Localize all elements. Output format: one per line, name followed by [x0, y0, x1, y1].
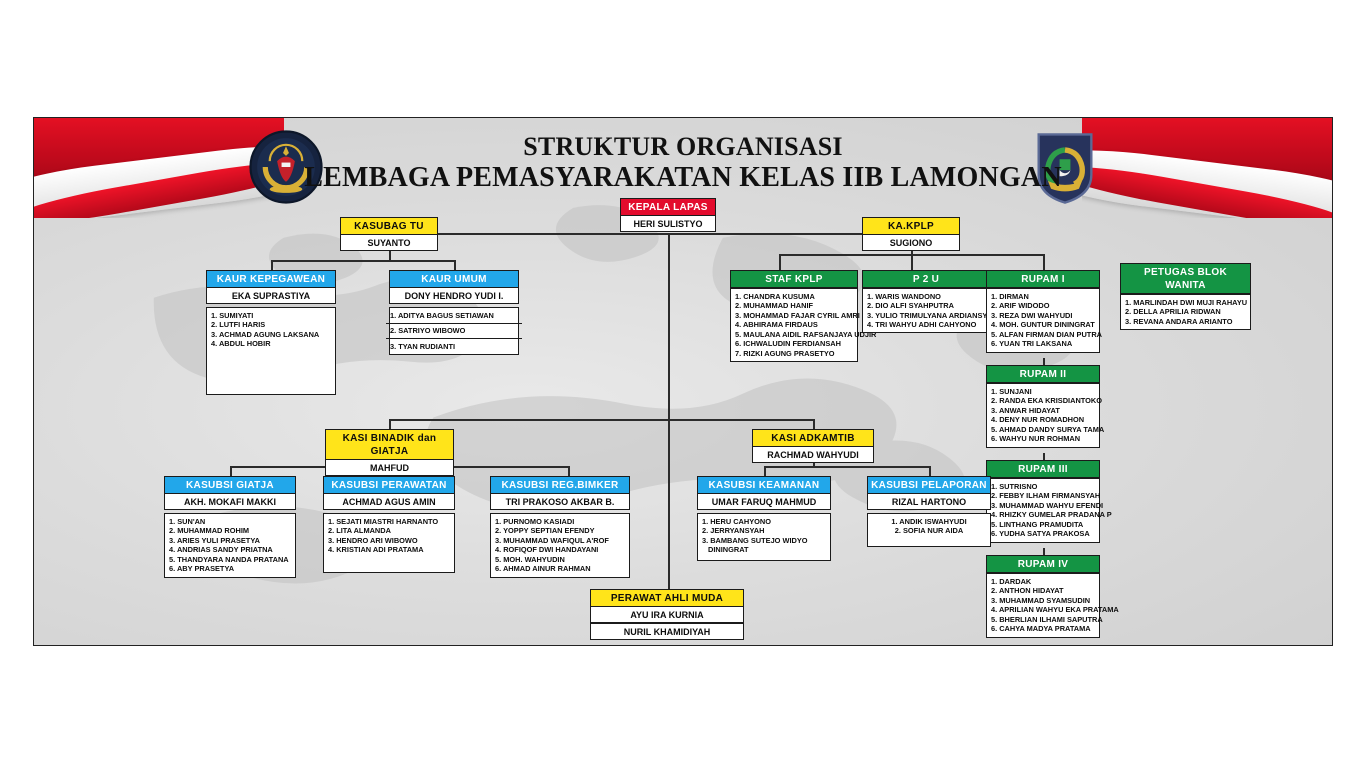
list-item: 2. YOPPY SEPTIAN EFENDY: [495, 526, 625, 536]
ka-kplp-title: KA.KPLP: [862, 217, 960, 235]
kasubsi-keamanan-title: KASUBSI KEAMANAN: [697, 476, 831, 494]
kaur-kepegawean-name: EKA SUPRASTIYA: [206, 288, 336, 304]
list-item: 7. RIZKI AGUNG PRASETYO: [735, 349, 853, 359]
list-item: 4. TRI WAHYU ADHI CAHYONO: [867, 320, 985, 330]
rupam-2-staff-list: 1. SUNJANI 2. RANDA EKA KRISDIANTOKO 3. …: [986, 383, 1100, 448]
kasubag-tu-title: KASUBAG TU: [340, 217, 438, 235]
list-item: 2. LITA ALMANDA: [328, 526, 450, 536]
list-item: 4. MOH. GUNTUR DININGRAT: [991, 320, 1095, 330]
connector-giatja-stem: [230, 466, 232, 476]
kaur-kepegawean-title: KAUR KEPEGAWEAN: [206, 270, 336, 288]
connector-kasubag-bus: [271, 260, 454, 262]
connector-perawat-spine: [668, 419, 670, 589]
list-item: 1. SUTRISNO: [991, 482, 1095, 492]
node-kaur-umum[interactable]: KAUR UMUM DONY HENDRO YUDI I. 1. ADITYA …: [389, 270, 519, 355]
rupam-3-title: RUPAM III: [986, 460, 1100, 478]
kasi-adkamtib-title: KASI ADKAMTIB: [752, 429, 874, 447]
list-item: 1. SUNJANI: [991, 387, 1095, 397]
staf-kplp-staff-list: 1. CHANDRA KUSUMA 2. MUHAMMAD HANIF 3. M…: [730, 288, 858, 362]
list-item: 4. DENY NUR ROMADHON: [991, 415, 1095, 425]
list-item: 1. CHANDRA KUSUMA: [735, 292, 853, 302]
list-item: 3. MOHAMMAD FAJAR CYRIL AMRI: [735, 311, 853, 321]
list-item: 2. RANDA EKA KRISDIANTOKO: [991, 396, 1095, 406]
list-item: 1. HERU CAHYONO: [702, 517, 826, 527]
node-rupam-4[interactable]: RUPAM IV 1. DARDAK 2. ANTHON HIDAYAT 3. …: [986, 555, 1100, 638]
list-item: 1. PURNOMO KASIADI: [495, 517, 625, 527]
ka-kplp-name: SUGIONO: [862, 235, 960, 251]
kasubsi-keamanan-staff-list: 1. HERU CAHYONO 2. JERRYANSYAH 3. BAMBAN…: [697, 513, 831, 561]
list-item: 4. ROFIQOF DWI HANDAYANI: [495, 545, 625, 555]
kasubsi-perawatan-name: ACHMAD AGUS AMIN: [323, 494, 455, 510]
list-item: 1. DARDAK: [991, 577, 1095, 587]
node-rupam-2[interactable]: RUPAM II 1. SUNJANI 2. RANDA EKA KRISDIA…: [986, 365, 1100, 448]
node-petugas-blok-wanita[interactable]: PETUGAS BLOK WANITA 1. MARLINDAH DWI MUJ…: [1120, 263, 1251, 330]
kasubsi-reg-bimker-name: TRI PRAKOSO AKBAR B.: [490, 494, 630, 510]
list-item: 5. AHMAD DANDY SURYA TAMA: [991, 425, 1095, 435]
list-item: 2. SOFIA NUR AIDA: [872, 526, 986, 536]
kasubsi-reg-bimker-staff-list: 1. PURNOMO KASIADI 2. YOPPY SEPTIAN EFEN…: [490, 513, 630, 578]
list-item: 3. REVANA ANDARA ARIANTO: [1125, 317, 1246, 327]
connector-main-spine: [668, 265, 670, 419]
node-rupam-1[interactable]: RUPAM I 1. DIRMAN 2. ARIF WIDODO 3. REZA…: [986, 270, 1100, 353]
connector-p2u-stem: [911, 254, 913, 270]
p2u-staff-list: 1. WARIS WANDONO 2. DIO ALFI SYAHPUTRA 3…: [862, 288, 990, 333]
node-staf-kplp[interactable]: STAF KPLP 1. CHANDRA KUSUMA 2. MUHAMMAD …: [730, 270, 858, 362]
kasubag-tu-name: SUYANTO: [340, 235, 438, 251]
list-item: 3. BAMBANG SUTEJO WIDYO DININGRAT: [702, 536, 826, 555]
list-item: 5. LINTHANG PRAMUDITA: [991, 520, 1095, 530]
list-item: 2. DIO ALFI SYAHPUTRA: [867, 301, 985, 311]
kasubsi-perawatan-staff-list: 1. SEJATI MIASTRI HARNANTO 2. LITA ALMAN…: [323, 513, 455, 573]
kasubsi-reg-bimker-title: KASUBSI REG.BIMKER: [490, 476, 630, 494]
node-kasi-binadik-giatja[interactable]: KASI BINADIK dan GIATJA MAHFUD: [325, 429, 454, 476]
kasubsi-giatja-staff-list: 1. SUN'AN 2. MUHAMMAD ROHIM 3. ARIES YUL…: [164, 513, 296, 578]
kasi-binadik-title: KASI BINADIK dan GIATJA: [325, 429, 454, 460]
list-item: 6. ICHWALUDIN FERDIANSAH: [735, 339, 853, 349]
list-item: 1. MARLINDAH DWI MUJI RAHAYU: [1125, 298, 1246, 308]
list-item: 1. WARIS WANDONO: [867, 292, 985, 302]
connector-pelaporan-stem: [929, 466, 931, 476]
list-item: 6. ABY PRASETYA: [169, 564, 291, 574]
kaur-kepegawean-staff-list: 1. SUMIYATI 2. LUTFI HARIS 3. ACHMAD AGU…: [206, 307, 336, 395]
connector-kasi-binadik-stem: [389, 419, 391, 429]
perawat-ahli-muda-title: PERAWAT AHLI MUDA: [590, 589, 744, 607]
list-item: 3. ACHMAD AGUNG LAKSANA: [211, 330, 331, 340]
kasubsi-pelaporan-title: KASUBSI PELAPORAN: [867, 476, 991, 494]
list-item: 3. MUHAMMAD WAFIQUL A'ROF: [495, 536, 625, 546]
list-item: 2. MUHAMMAD HANIF: [735, 301, 853, 311]
kasubsi-pelaporan-name: RIZAL HARTONO: [867, 494, 991, 510]
list-item: 1. SUMIYATI: [211, 311, 331, 321]
p2u-title: P 2 U: [862, 270, 990, 288]
list-item: 2. FEBBY ILHAM FIRMANSYAH: [991, 491, 1095, 501]
node-perawat-ahli-muda[interactable]: PERAWAT AHLI MUDA AYU IRA KURNIA NURIL K…: [590, 589, 744, 640]
connector-regbimker-stem: [568, 466, 570, 476]
kasubsi-keamanan-name: UMAR FARUQ MAHMUD: [697, 494, 831, 510]
list-item: 6. AHMAD AINUR RAHMAN: [495, 564, 625, 574]
connector-rupam1-stem: [1043, 254, 1045, 270]
list-item: 5. ALFAN FIRMAN DIAN PUTRA: [991, 330, 1095, 340]
node-ka-kplp[interactable]: KA.KPLP SUGIONO: [862, 217, 960, 251]
list-item: 3. YULIO TRIMULYANA ARDIANSYAH: [867, 311, 985, 321]
node-kepala-lapas[interactable]: KEPALA LAPAS HERI SULISTYO: [620, 198, 716, 232]
list-item: 2. LUTFI HARIS: [211, 320, 331, 330]
node-kasubsi-pelaporan[interactable]: KASUBSI PELAPORAN RIZAL HARTONO 1. ANDIK…: [867, 476, 991, 547]
node-kasubsi-giatja[interactable]: KASUBSI GIATJA AKH. MOKAFI MAKKI 1. SUN'…: [164, 476, 296, 578]
list-item: 4. ANDRIAS SANDY PRIATNA: [169, 545, 291, 555]
poster-title: STRUKTUR ORGANISASI LEMBAGA PEMASYARAKAT…: [34, 132, 1332, 194]
list-item: 2. ANTHON HIDAYAT: [991, 586, 1095, 596]
rupam-2-title: RUPAM II: [986, 365, 1100, 383]
list-item: 1. DIRMAN: [991, 292, 1095, 302]
rupam-1-title: RUPAM I: [986, 270, 1100, 288]
list-item: 3. MUHAMMAD SYAMSUDIN: [991, 596, 1095, 606]
list-item: 5. MAULANA AIDIL RAFSANJAYA UDJIR: [735, 330, 853, 340]
staf-kplp-title: STAF KPLP: [730, 270, 858, 288]
list-item: 6. WAHYU NUR ROHMAN: [991, 434, 1095, 444]
perawat-ahli-muda-name-1: AYU IRA KURNIA: [590, 607, 744, 623]
kasi-binadik-name: MAHFUD: [325, 460, 454, 476]
petugas-blok-wanita-staff-list: 1. MARLINDAH DWI MUJI RAHAYU 2. DELLA AP…: [1120, 294, 1251, 330]
organization-chart-poster: STRUKTUR ORGANISASI LEMBAGA PEMASYARAKAT…: [33, 117, 1333, 646]
list-item: 1. SUN'AN: [169, 517, 291, 527]
connector-adkamtib-bus: [764, 466, 929, 468]
list-item: 6. CAHYA MADYA PRATAMA: [991, 624, 1095, 634]
kasubsi-perawatan-title: KASUBSI PERAWATAN: [323, 476, 455, 494]
connector-top-bus: [389, 233, 912, 235]
title-line-2: LEMBAGA PEMASYARAKATAN KELAS IIB LAMONGA…: [34, 162, 1332, 194]
list-item: 2. JERRYANSYAH: [702, 526, 826, 536]
kepala-lapas-name: HERI SULISTYO: [620, 216, 716, 232]
list-item: 5. THANDYARA NANDA PRATANA: [169, 555, 291, 565]
list-item: 1. ANDIK ISWAHYUDI: [872, 517, 986, 527]
petugas-blok-wanita-title: PETUGAS BLOK WANITA: [1120, 263, 1251, 294]
list-item: 4. RHIZKY GUMELAR PRADANA P: [991, 510, 1095, 520]
kasubsi-giatja-title: KASUBSI GIATJA: [164, 476, 296, 494]
perawat-ahli-muda-name-2: NURIL KHAMIDIYAH: [590, 623, 744, 640]
list-item: 3. MUHAMMAD WAHYU EFENDI: [991, 501, 1095, 511]
list-item: 6. YUDHA SATYA PRAKOSA: [991, 529, 1095, 539]
list-item: 5. MOH. WAHYUDIN: [495, 555, 625, 565]
node-kasubsi-perawatan[interactable]: KASUBSI PERAWATAN ACHMAD AGUS AMIN 1. SE…: [323, 476, 455, 573]
kasubsi-pelaporan-staff-list: 1. ANDIK ISWAHYUDI 2. SOFIA NUR AIDA: [867, 513, 991, 547]
connector-stafkplp-stem: [779, 254, 781, 270]
list-item: 4. ABHIRAMA FIRDAUS: [735, 320, 853, 330]
connector-kasi-adkamtib-stem: [813, 419, 815, 429]
kasubsi-giatja-name: AKH. MOKAFI MAKKI: [164, 494, 296, 510]
list-item: 2. SATRIYO WIBOWO: [386, 324, 522, 340]
kaur-umum-name: DONY HENDRO YUDI I.: [389, 288, 519, 304]
list-item: 2. MUHAMMAD ROHIM: [169, 526, 291, 536]
rupam-4-staff-list: 1. DARDAK 2. ANTHON HIDAYAT 3. MUHAMMAD …: [986, 573, 1100, 638]
rupam-3-staff-list: 1. SUTRISNO 2. FEBBY ILHAM FIRMANSYAH 3.…: [986, 478, 1100, 543]
node-kaur-kepegawean[interactable]: KAUR KEPEGAWEAN EKA SUPRASTIYA 1. SUMIYA…: [206, 270, 336, 395]
kasi-adkamtib-name: RACHMAD WAHYUDI: [752, 447, 874, 463]
list-item: 3. HENDRO ARI WIBOWO: [328, 536, 450, 546]
connector-kaur-kepegawean-stem: [271, 260, 273, 270]
list-item: 3. REZA DWI WAHYUDI: [991, 311, 1095, 321]
list-item: 3. ANWAR HIDAYAT: [991, 406, 1095, 416]
kaur-umum-staff-list: 1. ADITYA BAGUS SETIAWAN 2. SATRIYO WIBO…: [389, 307, 519, 355]
list-item: 2. ARIF WIDODO: [991, 301, 1095, 311]
list-item: 4. KRISTIAN ADI PRATAMA: [328, 545, 450, 555]
node-kasubag-tu[interactable]: KASUBAG TU SUYANTO: [340, 217, 438, 251]
rupam-1-staff-list: 1. DIRMAN 2. ARIF WIDODO 3. REZA DWI WAH…: [986, 288, 1100, 353]
connector-kepala-down: [668, 233, 670, 265]
connector-kasi-bus: [389, 419, 813, 421]
kepala-lapas-title: KEPALA LAPAS: [620, 198, 716, 216]
list-item: 1. ADITYA BAGUS SETIAWAN: [386, 308, 522, 324]
list-item: 4. APRILIAN WAHYU EKA PRATAMA: [991, 605, 1095, 615]
list-item: 6. YUAN TRI LAKSANA: [991, 339, 1095, 349]
connector-kaur-umum-stem: [454, 260, 456, 270]
node-rupam-3[interactable]: RUPAM III 1. SUTRISNO 2. FEBBY ILHAM FIR…: [986, 460, 1100, 543]
node-p2u[interactable]: P 2 U 1. WARIS WANDONO 2. DIO ALFI SYAHP…: [862, 270, 990, 333]
kaur-umum-title: KAUR UMUM: [389, 270, 519, 288]
rupam-4-title: RUPAM IV: [986, 555, 1100, 573]
list-item: 5. BHERLIAN ILHAMI SAPUTRA: [991, 615, 1095, 625]
list-item: 1. SEJATI MIASTRI HARNANTO: [328, 517, 450, 527]
node-kasubsi-keamanan[interactable]: KASUBSI KEAMANAN UMAR FARUQ MAHMUD 1. HE…: [697, 476, 831, 561]
list-item: 2. DELLA APRILIA RIDWAN: [1125, 307, 1246, 317]
node-kasubsi-reg-bimker[interactable]: KASUBSI REG.BIMKER TRI PRAKOSO AKBAR B. …: [490, 476, 630, 578]
title-line-1: STRUKTUR ORGANISASI: [34, 132, 1332, 162]
list-item: 4. ABDUL HOBIR: [211, 339, 331, 349]
connector-keamanan-stem: [764, 466, 766, 476]
list-item: 3. ARIES YULI PRASETYA: [169, 536, 291, 546]
node-kasi-adkamtib[interactable]: KASI ADKAMTIB RACHMAD WAHYUDI: [752, 429, 874, 463]
list-item: 3. TYAN RUDIANTI: [386, 339, 522, 354]
